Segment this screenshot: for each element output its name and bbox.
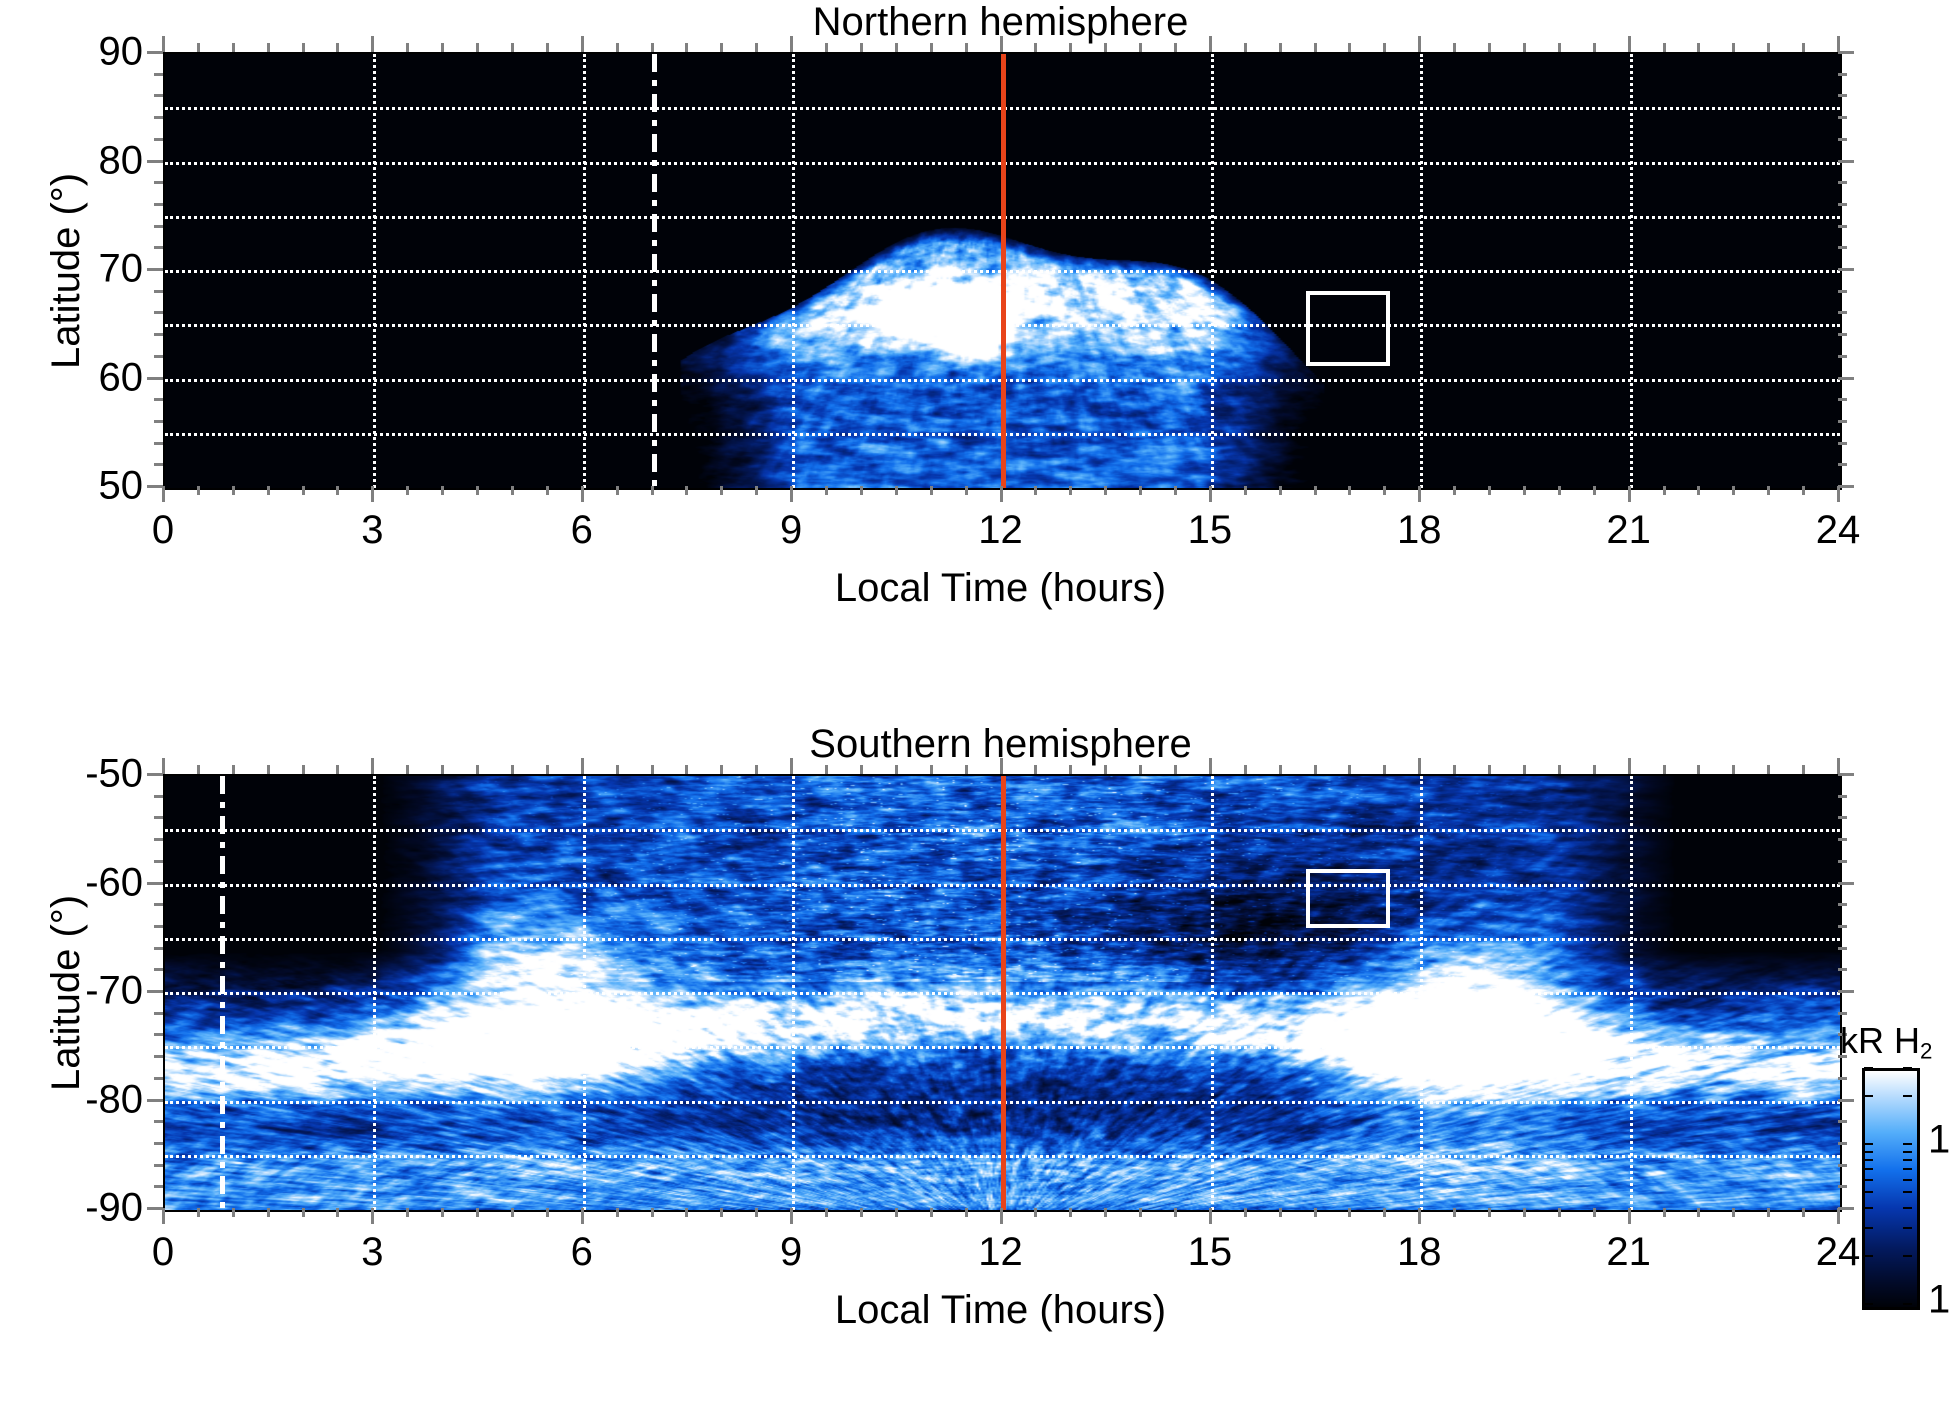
axis-tick — [685, 765, 688, 774]
axis-tick — [1838, 968, 1847, 971]
axis-tick — [1453, 43, 1456, 52]
axis-tick — [1697, 486, 1700, 495]
axis-tick — [1034, 765, 1037, 774]
axis-tick — [1838, 51, 1854, 54]
axis-tick — [1838, 420, 1847, 423]
axis-tick — [1767, 43, 1770, 52]
axis-tick — [302, 765, 305, 774]
axis-tick — [825, 486, 828, 495]
axis-tick — [1558, 765, 1561, 774]
axis-tick — [651, 43, 654, 52]
x-tick-label-24: 24 — [1816, 508, 1861, 553]
axis-tick — [302, 1208, 305, 1217]
axis-tick — [1838, 160, 1854, 163]
axis-tick — [1838, 442, 1847, 445]
axis-tick — [336, 765, 339, 774]
axis-tick — [546, 486, 549, 495]
axis-tick — [511, 765, 514, 774]
axis-tick — [895, 765, 898, 774]
axis-tick — [825, 1208, 828, 1217]
axis-tick — [1348, 486, 1351, 495]
axis-tick — [1069, 765, 1072, 774]
axis-tick — [1488, 765, 1491, 774]
colorbar-minor-tick — [1903, 1159, 1912, 1161]
axis-tick — [581, 758, 584, 774]
axis-tick — [1593, 765, 1596, 774]
axis-tick — [1244, 765, 1247, 774]
axis-tick — [154, 203, 163, 206]
axis-tick — [476, 1208, 479, 1217]
axis-tick — [1000, 486, 1003, 502]
axis-tick — [1314, 1208, 1317, 1217]
y-tick-label-50: 50 — [53, 464, 143, 509]
axis-tick — [1000, 36, 1003, 52]
axis-tick — [1838, 773, 1854, 776]
axis-tick — [406, 765, 409, 774]
axis-tick — [371, 36, 374, 52]
axis-tick — [1838, 1164, 1847, 1167]
axis-tick — [154, 420, 163, 423]
axis-tick — [1838, 860, 1847, 863]
axis-tick — [616, 1208, 619, 1217]
axis-tick — [1838, 1185, 1847, 1188]
x-tick-label-6: 6 — [571, 1230, 593, 1275]
axis-tick — [895, 486, 898, 495]
axis-tick — [1593, 43, 1596, 52]
axis-tick — [965, 43, 968, 52]
axis-tick — [1838, 903, 1847, 906]
axis-tick — [1000, 758, 1003, 774]
northern-x-axis-label: Local Time (hours) — [163, 566, 1838, 611]
axis-tick — [651, 765, 654, 774]
axis-tick — [154, 1012, 163, 1015]
axis-tick — [1628, 486, 1631, 502]
colorbar-minor-tick — [1903, 1207, 1912, 1209]
axis-tick — [511, 486, 514, 495]
axis-tick — [406, 1208, 409, 1217]
colorbar-minor-tick — [1903, 1303, 1912, 1305]
axis-tick — [651, 486, 654, 495]
axis-tick — [1139, 486, 1142, 495]
axis-tick — [371, 486, 374, 502]
x-tick-label-6: 6 — [571, 508, 593, 553]
axis-tick — [154, 1055, 163, 1058]
colorbar-tick-10: 10 — [1928, 1118, 1950, 1163]
axis-tick — [1279, 43, 1282, 52]
x-tick-label-15: 15 — [1188, 1230, 1233, 1275]
axis-tick — [1628, 1208, 1631, 1224]
axis-tick — [790, 758, 793, 774]
axis-tick — [1838, 138, 1847, 141]
colorbar-minor-tick — [1903, 1179, 1912, 1181]
axis-tick — [197, 43, 200, 52]
axis-tick — [1174, 765, 1177, 774]
axis-tick — [162, 486, 165, 502]
axis-tick — [546, 765, 549, 774]
axis-tick — [1697, 765, 1700, 774]
southern-region-of-interest-box — [1306, 869, 1390, 928]
axis-tick — [1104, 486, 1107, 495]
axis-tick — [581, 1208, 584, 1224]
axis-tick — [790, 1208, 793, 1224]
axis-tick — [406, 43, 409, 52]
axis-tick — [441, 765, 444, 774]
axis-tick — [1418, 758, 1421, 774]
axis-tick — [1279, 765, 1282, 774]
axis-tick — [232, 765, 235, 774]
axis-tick — [1802, 1208, 1805, 1217]
axis-tick — [197, 486, 200, 495]
axis-tick — [860, 486, 863, 495]
axis-tick — [1838, 838, 1847, 841]
axis-tick — [1732, 765, 1735, 774]
colorbar-minor-tick — [1864, 1255, 1873, 1257]
axis-tick — [1802, 765, 1805, 774]
colorbar-label-subscript: 2 — [1920, 1039, 1932, 1064]
x-tick-label-18: 18 — [1397, 508, 1442, 553]
x-tick-label-0: 0 — [152, 1230, 174, 1275]
colorbar-label-text: kR H — [1840, 1020, 1920, 1061]
axis-tick — [476, 765, 479, 774]
axis-tick — [1418, 486, 1421, 502]
axis-tick — [1104, 1208, 1107, 1217]
axis-tick — [1034, 1208, 1037, 1217]
axis-tick — [720, 1208, 723, 1217]
axis-tick — [154, 795, 163, 798]
axis-tick — [1453, 1208, 1456, 1217]
axis-tick — [476, 486, 479, 495]
axis-tick — [825, 765, 828, 774]
colorbar-minor-tick — [1864, 1191, 1873, 1193]
x-tick-label-12: 12 — [978, 1230, 1023, 1275]
axis-tick — [267, 765, 270, 774]
axis-tick — [1383, 43, 1386, 52]
axis-tick — [930, 43, 933, 52]
x-tick-label-12: 12 — [978, 508, 1023, 553]
axis-tick — [1838, 225, 1847, 228]
axis-tick — [1348, 765, 1351, 774]
axis-tick — [1348, 43, 1351, 52]
x-tick-label-21: 21 — [1606, 508, 1651, 553]
axis-tick — [147, 882, 163, 885]
axis-tick — [1838, 485, 1854, 488]
axis-tick — [1034, 486, 1037, 495]
axis-tick — [685, 1208, 688, 1217]
axis-tick — [755, 486, 758, 495]
axis-tick — [895, 43, 898, 52]
axis-tick — [1837, 486, 1840, 502]
axis-tick — [1453, 486, 1456, 495]
southern-noon-marker-line — [1001, 776, 1006, 1210]
axis-tick — [1838, 94, 1847, 97]
axis-tick — [1732, 486, 1735, 495]
colorbar-minor-tick — [1903, 1191, 1912, 1193]
axis-tick — [755, 43, 758, 52]
axis-tick — [1838, 311, 1847, 314]
axis-tick — [267, 43, 270, 52]
axis-tick — [581, 486, 584, 502]
axis-tick — [1418, 1208, 1421, 1224]
axis-tick — [1244, 486, 1247, 495]
axis-tick — [685, 43, 688, 52]
axis-tick — [1209, 1208, 1212, 1224]
axis-tick — [1697, 1208, 1700, 1217]
axis-tick — [476, 43, 479, 52]
axis-tick — [1838, 355, 1847, 358]
axis-tick — [860, 43, 863, 52]
axis-tick — [1838, 1099, 1854, 1102]
y-tick-label-90: 90 — [53, 30, 143, 75]
axis-tick — [232, 486, 235, 495]
axis-tick — [1838, 73, 1847, 76]
axis-tick — [1837, 36, 1840, 52]
x-tick-label-9: 9 — [780, 508, 802, 553]
axis-tick — [154, 1164, 163, 1167]
axis-tick — [441, 43, 444, 52]
axis-tick — [1732, 43, 1735, 52]
axis-tick — [1174, 1208, 1177, 1217]
axis-tick — [1838, 246, 1847, 249]
axis-tick — [1279, 486, 1282, 495]
axis-tick — [154, 925, 163, 928]
x-tick-label-24: 24 — [1816, 1230, 1861, 1275]
axis-tick — [930, 765, 933, 774]
axis-tick — [1838, 116, 1847, 119]
axis-tick — [154, 947, 163, 950]
colorbar-minor-tick — [1864, 1179, 1873, 1181]
axis-tick — [336, 43, 339, 52]
axis-tick — [1174, 486, 1177, 495]
axis-tick — [1838, 816, 1847, 819]
axis-tick — [1767, 1208, 1770, 1217]
axis-tick — [1838, 463, 1847, 466]
axis-tick — [1383, 765, 1386, 774]
axis-tick — [1767, 486, 1770, 495]
axis-tick — [154, 311, 163, 314]
axis-tick — [147, 377, 163, 380]
axis-tick — [1523, 486, 1526, 495]
axis-tick — [154, 225, 163, 228]
axis-tick — [790, 486, 793, 502]
axis-tick — [825, 43, 828, 52]
axis-tick — [154, 333, 163, 336]
axis-tick — [154, 1185, 163, 1188]
axis-tick — [302, 43, 305, 52]
x-tick-label-15: 15 — [1188, 508, 1233, 553]
axis-tick — [790, 36, 793, 52]
axis-tick — [1069, 43, 1072, 52]
axis-tick — [1209, 486, 1212, 502]
axis-tick — [1104, 765, 1107, 774]
axis-tick — [1139, 43, 1142, 52]
axis-tick — [1802, 486, 1805, 495]
axis-tick — [1279, 1208, 1282, 1217]
axis-tick — [930, 1208, 933, 1217]
axis-tick — [1838, 181, 1847, 184]
axis-tick — [154, 398, 163, 401]
axis-tick — [546, 1208, 549, 1217]
axis-tick — [1209, 758, 1212, 774]
axis-tick — [1523, 43, 1526, 52]
axis-tick — [1244, 1208, 1247, 1217]
axis-tick — [965, 1208, 968, 1217]
axis-tick — [1383, 486, 1386, 495]
axis-tick — [895, 1208, 898, 1217]
axis-tick — [371, 1208, 374, 1224]
axis-tick — [267, 486, 270, 495]
axis-tick — [755, 1208, 758, 1217]
axis-tick — [441, 486, 444, 495]
axis-tick — [154, 246, 163, 249]
axis-tick — [154, 1142, 163, 1145]
axis-tick — [154, 968, 163, 971]
colorbar-minor-tick — [1864, 1159, 1873, 1161]
axis-tick — [1488, 486, 1491, 495]
axis-tick — [1314, 43, 1317, 52]
colorbar-minor-tick — [1903, 1255, 1912, 1257]
axis-tick — [1244, 43, 1247, 52]
axis-tick — [1628, 36, 1631, 52]
axis-tick — [154, 181, 163, 184]
axis-tick — [1383, 1208, 1386, 1217]
colorbar-minor-tick — [1903, 1151, 1912, 1153]
axis-tick — [1663, 765, 1666, 774]
colorbar-tick-1: 1 — [1928, 1278, 1950, 1323]
axis-tick — [154, 94, 163, 97]
axis-tick — [581, 36, 584, 52]
northern-y-axis-label: Latitude (°) — [44, 173, 89, 369]
y-tick-label-neg90: -90 — [53, 1186, 143, 1231]
axis-tick — [162, 758, 165, 774]
axis-tick — [147, 990, 163, 993]
colorbar-minor-tick — [1864, 1227, 1873, 1229]
axis-tick — [1838, 1120, 1847, 1123]
axis-tick — [1838, 1142, 1847, 1145]
axis-tick — [1174, 43, 1177, 52]
axis-tick — [1488, 43, 1491, 52]
axis-tick — [154, 838, 163, 841]
axis-tick — [546, 43, 549, 52]
axis-tick — [162, 1208, 165, 1224]
axis-tick — [154, 1033, 163, 1036]
axis-tick — [1802, 43, 1805, 52]
axis-tick — [197, 765, 200, 774]
axis-tick — [336, 1208, 339, 1217]
colorbar-minor-tick — [1903, 1227, 1912, 1229]
colorbar-minor-tick — [1903, 1095, 1912, 1097]
axis-tick — [1104, 43, 1107, 52]
axis-tick — [1838, 203, 1847, 206]
axis-tick — [616, 43, 619, 52]
axis-tick — [1837, 758, 1840, 774]
axis-tick — [651, 1208, 654, 1217]
colorbar-minor-tick — [1864, 1067, 1873, 1069]
axis-tick — [1628, 758, 1631, 774]
axis-tick — [232, 43, 235, 52]
southern-dashdot-marker-line — [220, 776, 225, 1210]
colorbar-minor-tick — [1903, 1168, 1912, 1170]
axis-tick — [302, 486, 305, 495]
axis-tick — [154, 463, 163, 466]
southern-x-axis-label: Local Time (hours) — [163, 1288, 1838, 1333]
y-tick-label-neg50: -50 — [53, 752, 143, 797]
axis-tick — [336, 486, 339, 495]
axis-tick — [147, 51, 163, 54]
axis-tick — [1593, 486, 1596, 495]
axis-tick — [755, 765, 758, 774]
axis-tick — [1139, 1208, 1142, 1217]
axis-tick — [1838, 1207, 1854, 1210]
axis-tick — [147, 268, 163, 271]
axis-tick — [1838, 990, 1854, 993]
northern-noon-marker-line — [1001, 54, 1006, 488]
axis-tick — [511, 1208, 514, 1217]
axis-tick — [1732, 1208, 1735, 1217]
colorbar — [1862, 1068, 1920, 1310]
axis-tick — [154, 1077, 163, 1080]
axis-tick — [154, 355, 163, 358]
axis-tick — [720, 486, 723, 495]
axis-tick — [1838, 333, 1847, 336]
axis-tick — [147, 1207, 163, 1210]
axis-tick — [1314, 486, 1317, 495]
colorbar-minor-tick — [1864, 1143, 1873, 1145]
northern-plot-area — [163, 52, 1842, 490]
axis-tick — [147, 160, 163, 163]
axis-tick — [860, 1208, 863, 1217]
axis-tick — [1523, 765, 1526, 774]
axis-tick — [162, 36, 165, 52]
colorbar-minor-tick — [1903, 1143, 1912, 1145]
axis-tick — [1663, 486, 1666, 495]
axis-tick — [720, 765, 723, 774]
axis-tick — [1069, 486, 1072, 495]
colorbar-minor-tick — [1864, 1168, 1873, 1170]
axis-tick — [720, 43, 723, 52]
northern-region-of-interest-box — [1306, 291, 1390, 367]
colorbar-minor-tick — [1903, 1067, 1912, 1069]
axis-tick — [154, 116, 163, 119]
axis-tick — [1838, 398, 1847, 401]
x-tick-label-3: 3 — [361, 508, 383, 553]
axis-tick — [1838, 268, 1854, 271]
axis-tick — [1838, 795, 1847, 798]
axis-tick — [616, 765, 619, 774]
axis-tick — [1314, 765, 1317, 774]
x-tick-label-18: 18 — [1397, 1230, 1442, 1275]
axis-tick — [616, 486, 619, 495]
colorbar-minor-tick — [1864, 1151, 1873, 1153]
axis-tick — [154, 73, 163, 76]
x-tick-label-3: 3 — [361, 1230, 383, 1275]
axis-tick — [154, 1120, 163, 1123]
axis-tick — [154, 903, 163, 906]
axis-tick — [154, 290, 163, 293]
northern-dashdot-marker-line — [652, 54, 657, 488]
axis-tick — [1838, 1077, 1847, 1080]
axis-tick — [1034, 43, 1037, 52]
axis-tick — [154, 816, 163, 819]
axis-tick — [154, 138, 163, 141]
colorbar-minor-tick — [1864, 1303, 1873, 1305]
axis-tick — [1838, 377, 1854, 380]
axis-tick — [1558, 43, 1561, 52]
axis-tick — [965, 486, 968, 495]
axis-tick — [685, 486, 688, 495]
axis-tick — [1000, 1208, 1003, 1224]
axis-tick — [371, 758, 374, 774]
x-tick-label-0: 0 — [152, 508, 174, 553]
